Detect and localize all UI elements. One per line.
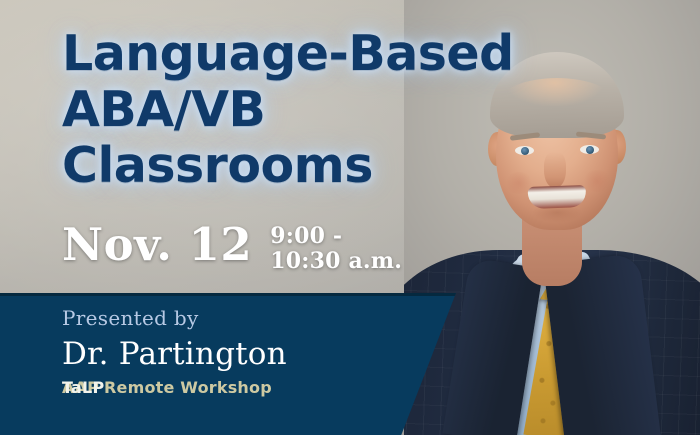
workshop-subline: AAP TaLP Remote Workshop <box>62 377 422 399</box>
event-time-line-2: 10:30 a.m. <box>270 249 402 274</box>
headline-line-1: Language-Based <box>62 26 532 82</box>
event-date-time: Nov. 12 9:00 - 10:30 a.m. <box>62 218 402 274</box>
headline-line-3: Classrooms <box>62 138 532 194</box>
portrait-nose <box>544 152 566 188</box>
speaker-name: Dr. Partington <box>62 335 422 373</box>
event-date: Nov. 12 <box>62 218 252 272</box>
portrait-cheek-right <box>582 170 612 192</box>
presenter-panel-content: Presented by Dr. Partington AAP TaLP Rem… <box>62 305 422 399</box>
portrait-eye-right <box>580 145 599 154</box>
portrait-chin-shadow <box>524 206 590 228</box>
workshop-org-overlay-b: TaLP <box>62 377 104 399</box>
event-promo-poster: Language-Based ABA/VB Classrooms Nov. 12… <box>0 0 700 435</box>
presenter-panel: Presented by Dr. Partington AAP TaLP Rem… <box>0 293 456 435</box>
workshop-type-label: Remote Workshop <box>104 377 272 399</box>
event-time: 9:00 - 10:30 a.m. <box>270 218 402 274</box>
panel-top-divider <box>0 293 456 296</box>
presented-by-label: Presented by <box>62 305 422 331</box>
event-time-line-1: 9:00 - <box>270 224 402 249</box>
headline-line-2: ABA/VB <box>62 82 532 138</box>
poster-headline: Language-Based ABA/VB Classrooms <box>62 26 532 194</box>
